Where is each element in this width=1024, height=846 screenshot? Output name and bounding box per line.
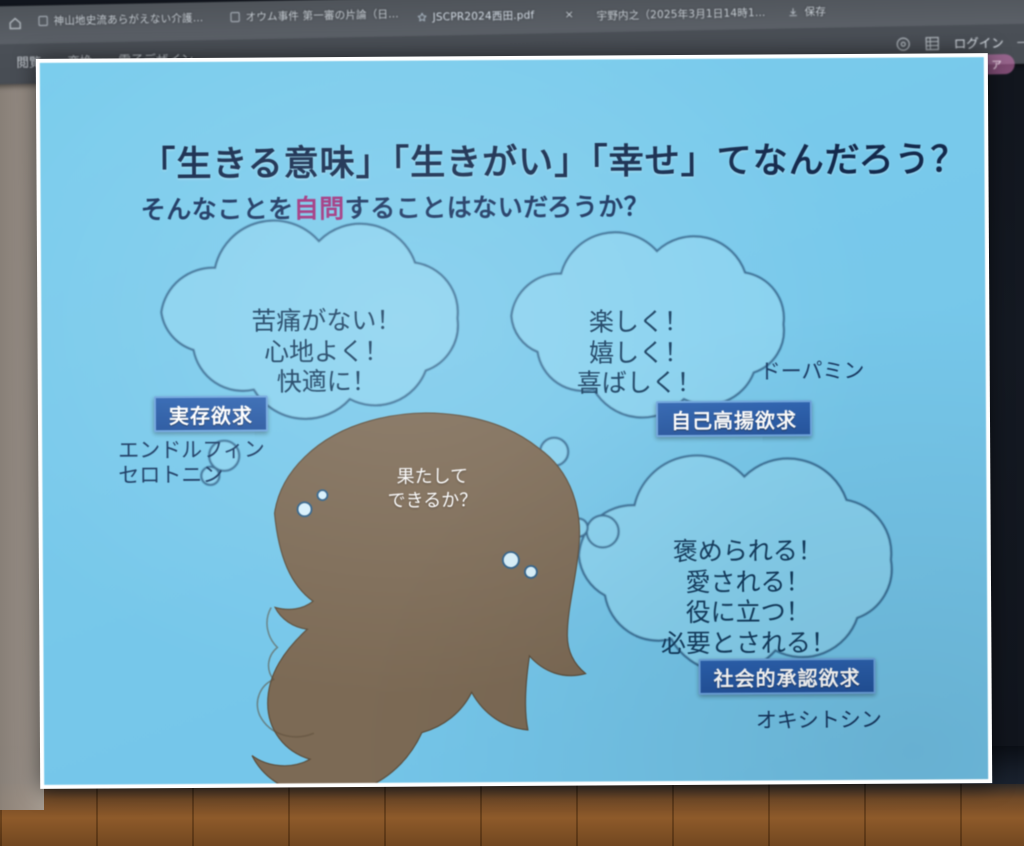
badge-self-enhancement: 自己高揚欲求 xyxy=(656,400,812,437)
slide-subtitle-after: することはないだろうか？ xyxy=(345,192,650,223)
neurotransmitter-label: エンドルフィン xyxy=(118,438,265,464)
download-icon[interactable] xyxy=(787,6,798,17)
tab-close-icon[interactable]: × xyxy=(564,8,574,21)
bubble-existence-text: 苦痛がない！ 心地よく！ 快適に！ xyxy=(196,305,457,398)
browser-tab-label: 宇野内之（2025年3月1日14時1… xyxy=(596,5,765,23)
star-icon[interactable] xyxy=(417,12,428,23)
slide-title: 「生きる意味」「生きがい」「幸せ」てなんだろう？ xyxy=(140,131,966,187)
bubble-social-approval-line: 褒められる！ xyxy=(598,536,898,568)
bubble-self-enhancement-line: 楽しく！ xyxy=(531,307,746,339)
room-photo: 神山地史流あらがえない介護… オウム事件 第一審の片論（日… JSCPR2024… xyxy=(0,0,1024,846)
projection-screen: 「生きる意味」「生きがい」「幸せ」てなんだろう？ そんなことを自問することはない… xyxy=(36,53,992,789)
home-icon[interactable] xyxy=(8,16,23,31)
slide-subtitle-highlight: 自問 xyxy=(294,194,345,223)
bubble-self-enhancement-line: 喜ばしく！ xyxy=(532,368,747,400)
login-button[interactable]: ログイン xyxy=(954,32,1004,52)
neurotransmitter-existence: エンドルフィン セロトニン xyxy=(118,438,265,489)
neurotransmitter-label: オキシトシン xyxy=(756,708,882,734)
page-icon xyxy=(229,11,240,22)
head-thought-line: できるか？ xyxy=(342,489,522,514)
bubble-self-enhancement-text: 楽しく！ 嬉しく！ 喜ばしく！ xyxy=(531,307,747,400)
bubble-social-approval-line: 役に立つ！ xyxy=(598,597,898,629)
presentation-slide: 「生きる意味」「生きがい」「幸せ」てなんだろう？ そんなことを自問することはない… xyxy=(40,57,988,785)
browser-tab-label: オウム事件 第一審の片論（日… xyxy=(245,6,399,24)
help-icon[interactable] xyxy=(896,36,912,52)
bubble-social-approval-line: 愛される！ xyxy=(598,566,898,598)
bubble-existence-line: 快適に！ xyxy=(197,366,457,398)
page-icon xyxy=(38,15,49,26)
badge-social-approval: 社会的承認欲求 xyxy=(698,658,875,695)
slide-subtitle: そんなことを自問することはないだろうか？ xyxy=(141,187,650,226)
bubble-existence-line: 苦痛がない！ xyxy=(196,305,456,337)
browser-tab-active[interactable]: JSCPR2024西田.pdf xyxy=(416,8,534,25)
bubble-self-enhancement-line: 嬉しく！ xyxy=(531,337,746,369)
browser-toolbar-right: ログイン — xyxy=(896,32,1024,54)
browser-tab[interactable]: オウム事件 第一審の片論（日… xyxy=(229,6,399,24)
wooden-wall-panel xyxy=(0,784,1024,846)
slide-subtitle-before: そんなことを xyxy=(141,194,294,224)
toolbar-download-label: 保存 xyxy=(804,4,826,19)
neurotransmitter-self-enhancement: ドーパミン xyxy=(760,359,865,385)
bubble-social-approval-line: 必要とされる！ xyxy=(598,627,898,659)
browser-tab[interactable]: 神山地史流あらがえない介護… xyxy=(37,10,203,28)
badge-existence: 実存欲求 xyxy=(154,396,268,433)
bubble-existence-line: 心地よく！ xyxy=(196,336,456,368)
browser-tab-label: 神山地史流あらがえない介護… xyxy=(53,10,203,28)
browser-tab-label: JSCPR2024西田.pdf xyxy=(432,8,534,25)
bubble-social-approval-text: 褒められる！ 愛される！ 役に立つ！ 必要とされる！ xyxy=(598,536,899,660)
head-thought-text: 果たしてできるか？ xyxy=(342,465,522,515)
neurotransmitter-social-approval: オキシトシン xyxy=(756,708,882,734)
neurotransmitter-label: セロトニン xyxy=(118,463,265,489)
neurotransmitter-label: ドーパミン xyxy=(760,359,865,385)
apps-grid-icon[interactable] xyxy=(925,35,941,51)
head-thought-line: 果たして xyxy=(342,465,522,490)
toolbar-download-group[interactable]: 保存 xyxy=(787,4,826,20)
minimize-button[interactable]: — xyxy=(1017,34,1024,48)
browser-tab[interactable]: 宇野内之（2025年3月1日14時1… xyxy=(596,5,765,23)
